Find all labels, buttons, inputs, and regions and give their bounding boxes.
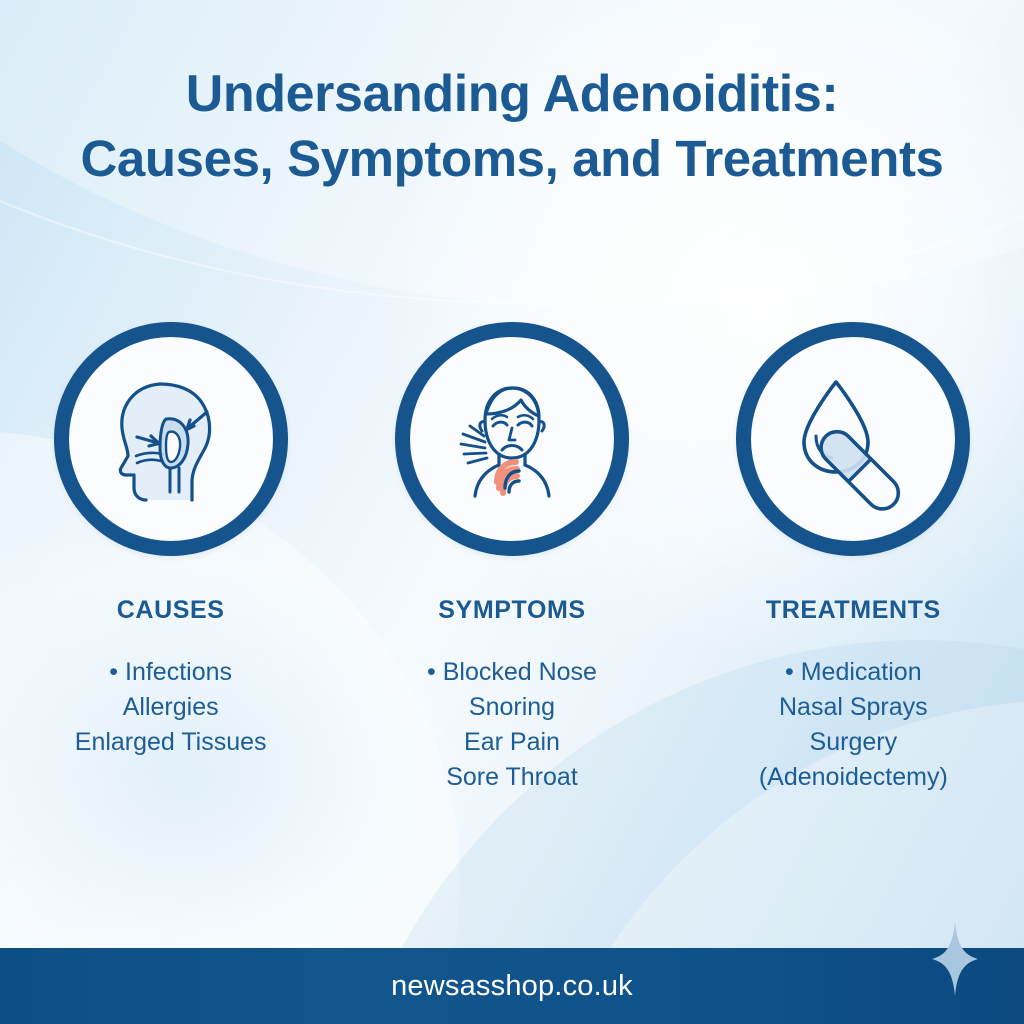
title-line-1: Undersanding Adenoiditis: [0, 68, 1024, 121]
list-item: Nasal Sprays [759, 690, 948, 725]
list-treatments: • Medication Nasal Sprays Surgery (Adeno… [759, 655, 948, 795]
list-item: Enlarged Tissues [75, 725, 267, 760]
column-causes: CAUSES • Infections Allergies Enlarged T… [0, 322, 341, 795]
footer-bar: newsasshop.co.uk [0, 948, 1024, 1024]
content-columns: CAUSES • Infections Allergies Enlarged T… [0, 322, 1024, 795]
title-line-2: Causes, Symptoms, and Treatments [0, 129, 1024, 189]
list-item: Snoring [427, 690, 597, 725]
list-item: (Adenoidectemy) [759, 760, 948, 795]
list-causes: • Infections Allergies Enlarged Tissues [75, 655, 267, 760]
head-anatomy-adenoid-icon [96, 364, 246, 514]
symptoms-icon-circle [395, 322, 629, 556]
heading-symptoms: SYMPTOMS [438, 596, 585, 625]
list-item: Surgery [759, 725, 948, 760]
infographic-poster: Undersanding Adenoiditis: Causes, Sympto… [0, 0, 1024, 1024]
sick-child-sore-throat-icon [437, 364, 587, 514]
list-item: Ear Pain [427, 725, 597, 760]
column-treatments: TREATMENTS • Medication Nasal Sprays Sur… [683, 322, 1024, 795]
column-symptoms: SYMPTOMS • Blocked Nose Snoring Ear Pain… [341, 322, 682, 795]
heading-treatments: TREATMENTS [766, 596, 941, 625]
website-url[interactable]: newsasshop.co.uk [391, 970, 633, 1003]
list-item: • Medication [759, 655, 948, 690]
list-item: Sore Throat [427, 760, 597, 795]
list-item: Allergies [75, 690, 267, 725]
page-title: Undersanding Adenoiditis: Causes, Sympto… [0, 68, 1024, 189]
droplet-and-pill-icon [778, 364, 928, 514]
causes-icon-circle [54, 322, 288, 556]
list-symptoms: • Blocked Nose Snoring Ear Pain Sore Thr… [427, 655, 597, 795]
treatments-icon-circle [736, 322, 970, 556]
list-item: • Infections [75, 655, 267, 690]
list-item: • Blocked Nose [427, 655, 597, 690]
heading-causes: CAUSES [117, 596, 225, 625]
